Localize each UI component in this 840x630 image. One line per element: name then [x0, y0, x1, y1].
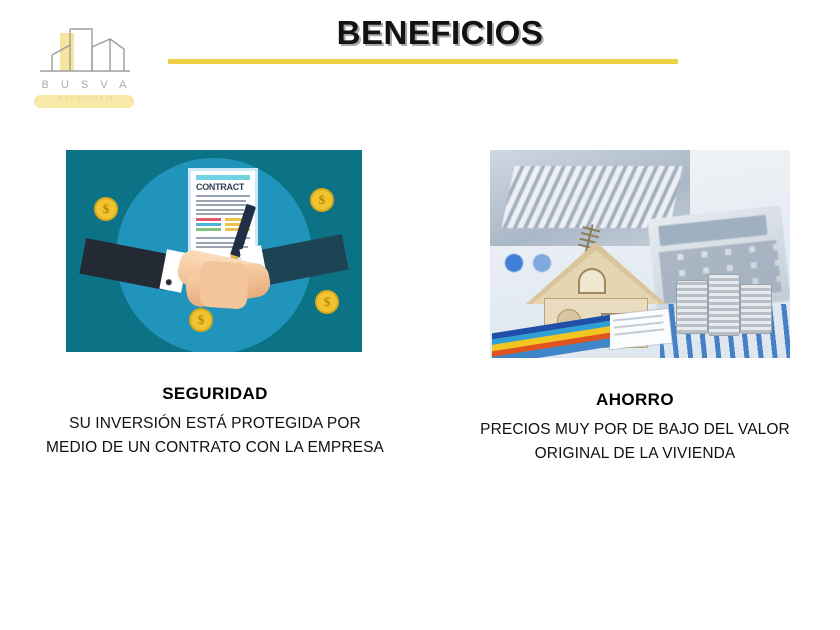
- title-underline-rule: [168, 59, 678, 64]
- handshake-grip: [198, 260, 249, 309]
- logo-tagline-banner: INMOBILIARIA: [34, 95, 134, 108]
- coin-icon: $: [310, 188, 334, 212]
- house-savings-photo: [490, 150, 790, 358]
- coin-icon: $: [189, 308, 213, 332]
- coin-stack: [740, 284, 772, 334]
- coin-stacks: [676, 266, 776, 342]
- coin-icon: $: [315, 290, 339, 314]
- document-title: CONTRACT: [196, 182, 250, 192]
- logo-wordmark: B U S V A: [30, 79, 138, 91]
- slide-header: B U S V A INMOBILIARIA BENEFICIOS: [0, 0, 840, 120]
- paper-note: [606, 309, 671, 349]
- page-title: BENEFICIOS: [180, 14, 700, 52]
- coin-stack: [708, 274, 740, 336]
- benefit-card-ahorro: AHORRO PRECIOS MUY POR DE BAJO DEL VALOR…: [450, 150, 820, 465]
- calculator-screen: [658, 215, 767, 246]
- logo-tagline: INMOBILIARIA: [34, 96, 134, 102]
- document-header-band: [196, 175, 250, 180]
- coin-stack: [676, 280, 708, 334]
- building-outline-icon: [30, 25, 138, 81]
- handshake-contract-illustration: $ $ $ $ CONTRACT: [66, 150, 362, 352]
- coin-icon: $: [94, 197, 118, 221]
- benefit-description: PRECIOS MUY POR DE BAJO DEL VALOR ORIGIN…: [450, 418, 820, 465]
- benefit-card-seguridad: $ $ $ $ CONTRACT: [30, 150, 400, 459]
- benefit-heading: SEGURIDAD: [30, 384, 400, 404]
- busva-logo: B U S V A INMOBILIARIA: [30, 25, 138, 110]
- house-attic-window: [578, 268, 606, 294]
- benefit-heading: AHORRO: [450, 390, 820, 410]
- benefit-description: SU INVERSIÓN ESTÁ PROTEGIDA POR MEDIO DE…: [30, 412, 400, 459]
